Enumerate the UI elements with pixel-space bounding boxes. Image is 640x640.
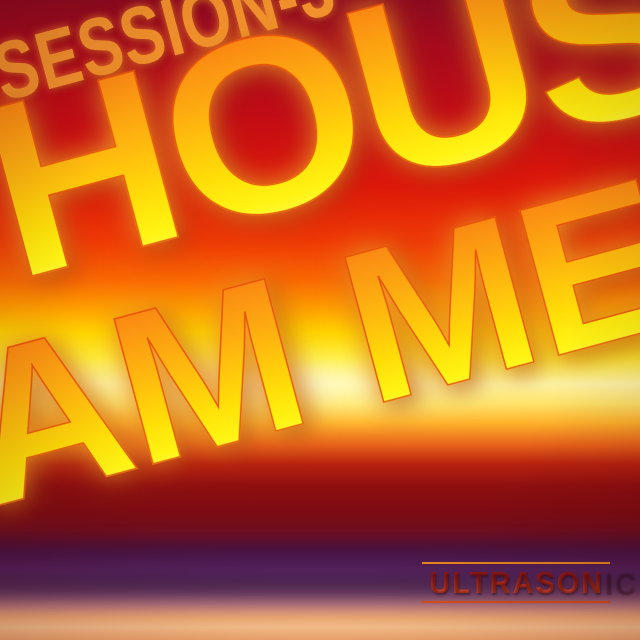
record-label-logo: ULTRASONIC <box>422 562 610 603</box>
album-cover: SESSION-3 HOUSE AM MEER ULTRASONIC <box>0 0 640 640</box>
record-label-name: ULTRASONIC <box>430 567 603 599</box>
background-sunset-photo <box>0 0 640 640</box>
sun-glow <box>51 346 589 423</box>
